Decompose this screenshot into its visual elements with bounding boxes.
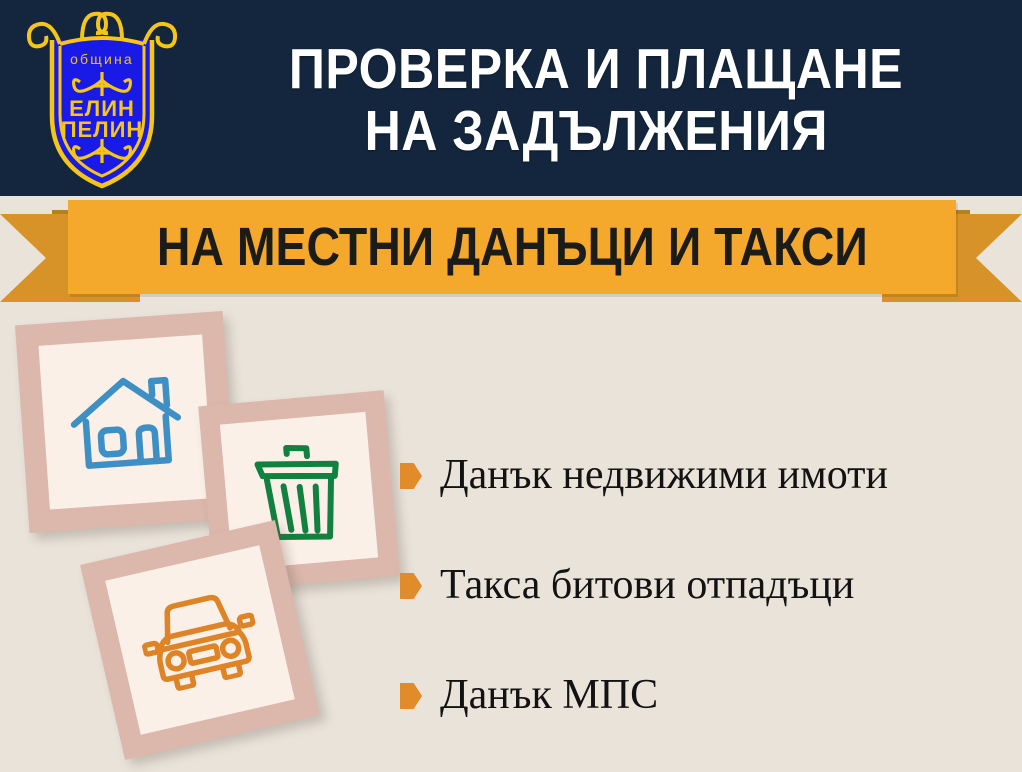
house-icon <box>67 369 186 475</box>
title-line-1: ПРОВЕРКА И ПЛАЩАНЕ <box>289 40 903 98</box>
stamp-paper <box>105 545 294 734</box>
car-icon <box>133 583 266 697</box>
poster-canvas: община ЕЛИН ПЕЛИН ПРОВЕРКА И ПЛАЩАНЕ НА … <box>0 0 1022 772</box>
ribbon-label: НА МЕСТНИ ДАНЪЦИ И ТАКСИ <box>157 220 868 274</box>
crest-line-obshtina: община <box>70 51 134 67</box>
arrow-bullet-icon <box>400 683 422 709</box>
list-item: Данък недвижими имоти <box>400 420 1010 530</box>
subtitle-ribbon: НА МЕСТНИ ДАНЪЦИ И ТАКСИ <box>0 196 1022 308</box>
arrow-bullet-icon <box>400 463 422 489</box>
coat-of-arms-shield-icon: община ЕЛИН ПЕЛИН <box>22 6 182 190</box>
list-item: Данък МПС <box>400 640 1010 750</box>
page-title: ПРОВЕРКА И ПЛАЩАНЕ НА ЗАДЪЛЖЕНИЯ <box>186 14 1006 186</box>
arrow-bullet-icon <box>400 573 422 599</box>
obligation-type-list: Данък недвижими имоти Такса битови отпад… <box>400 420 1010 750</box>
stamp-paper <box>38 334 213 509</box>
list-item-label: Такса битови отпадъци <box>440 562 854 608</box>
municipality-crest: община ЕЛИН ПЕЛИН <box>22 6 182 190</box>
ribbon-body: НА МЕСТНИ ДАНЪЦИ И ТАКСИ <box>68 200 956 294</box>
crest-line-pelin: ПЕЛИН <box>61 117 144 142</box>
list-item: Такса битови отпадъци <box>400 530 1010 640</box>
title-line-2: НА ЗАДЪЛЖЕНИЯ <box>364 102 827 160</box>
header-banner: община ЕЛИН ПЕЛИН ПРОВЕРКА И ПЛАЩАНЕ НА … <box>0 0 1022 196</box>
list-item-label: Данък недвижими имоти <box>440 452 888 498</box>
list-item-label: Данък МПС <box>440 672 658 718</box>
